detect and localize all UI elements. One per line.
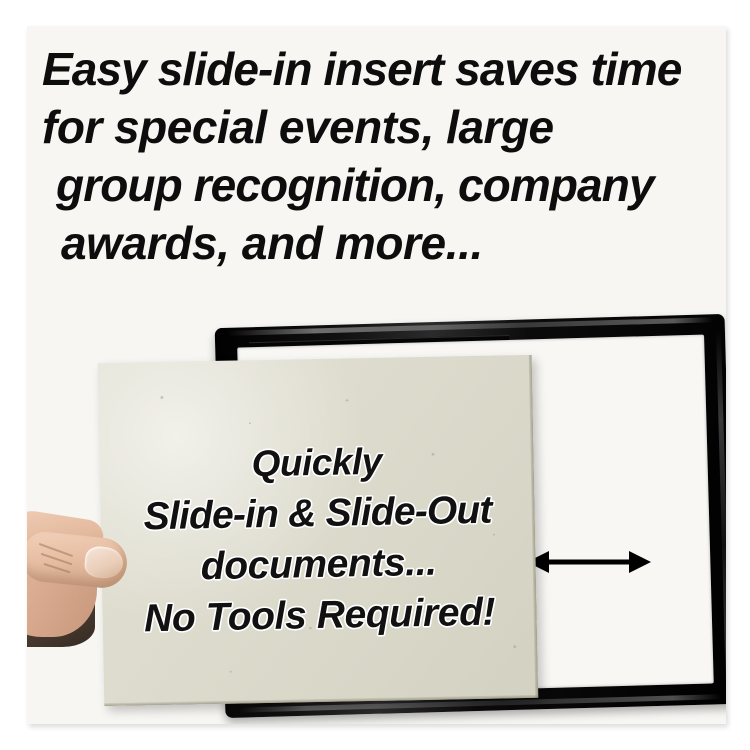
card-line-2: Slide-in & Slide-Out bbox=[100, 484, 535, 543]
headline-block: Easy slide-in insert saves time for spec… bbox=[27, 26, 726, 272]
card-line-3: documents... bbox=[101, 535, 536, 594]
paper-speck bbox=[160, 396, 163, 399]
headline-line-3: group recognition, company bbox=[27, 156, 726, 214]
knuckle-crease bbox=[43, 563, 70, 574]
thumb bbox=[27, 530, 129, 591]
paper-speck bbox=[230, 671, 232, 673]
thumbnail bbox=[83, 545, 124, 580]
card-line-4: No Tools Required! bbox=[102, 586, 537, 645]
insert-card: Quickly Slide-in & Slide-Out documents..… bbox=[98, 355, 539, 706]
paper-speck bbox=[249, 422, 251, 424]
paper-speck bbox=[513, 645, 516, 648]
insert-card-text: Quickly Slide-in & Slide-Out documents..… bbox=[99, 433, 537, 645]
headline-line-4: awards, and more... bbox=[27, 214, 726, 272]
frame-gloss-right bbox=[716, 330, 726, 688]
photo-plate: Easy slide-in insert saves time for spec… bbox=[27, 26, 726, 724]
product-photo: Easy slide-in insert saves time for spec… bbox=[0, 0, 750, 750]
slide-direction-arrow bbox=[527, 550, 651, 574]
headline-line-1: Easy slide-in insert saves time bbox=[27, 40, 726, 98]
headline-line-2: for special events, large bbox=[27, 98, 726, 156]
card-line-1: Quickly bbox=[99, 433, 534, 492]
frame-gloss-top bbox=[227, 317, 713, 336]
paper-speck bbox=[345, 399, 348, 401]
hand-holding-card bbox=[27, 513, 141, 643]
